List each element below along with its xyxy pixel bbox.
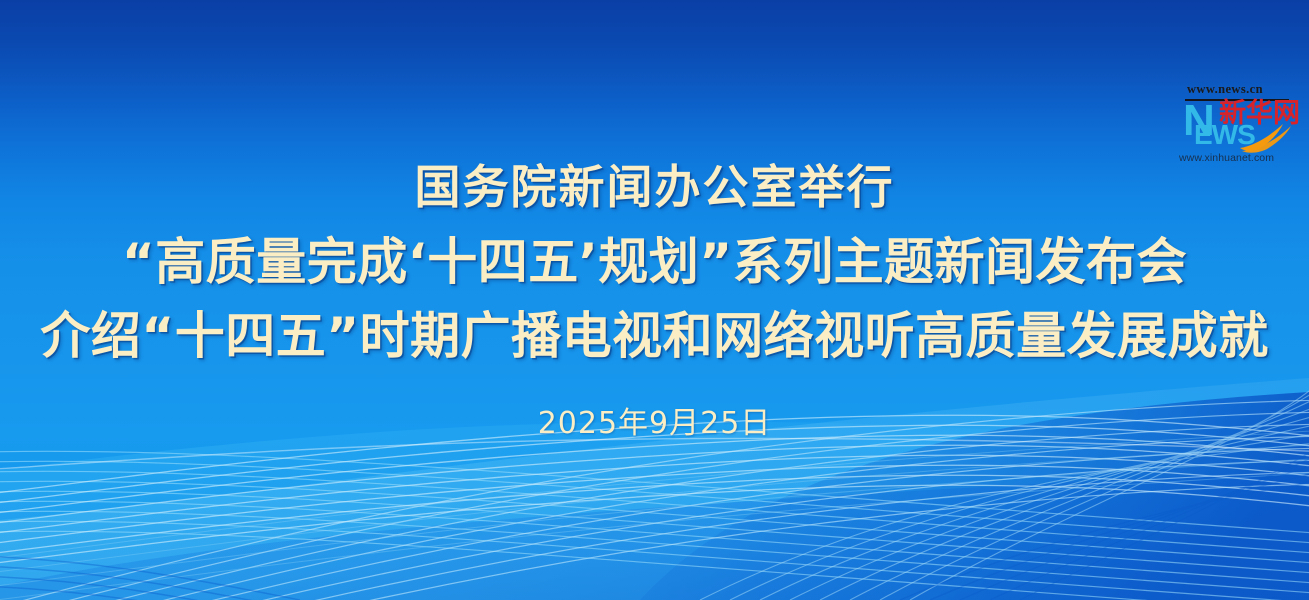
- background-wave-pattern: [0, 0, 1309, 600]
- logo-bottom-url: www.xinhuanet.com: [1179, 152, 1274, 164]
- headline-line-1: 国务院新闻办公室举行: [0, 160, 1309, 214]
- press-conference-banner: 国务院新闻办公室举行 “高质量完成‘十四五’规划”系列主题新闻发布会 介绍“十四…: [0, 0, 1309, 600]
- headline-line-3: 介绍“十四五”时期广播电视和网络视听高质量发展成就: [0, 306, 1309, 366]
- logo-top-url: www.news.cn: [1187, 82, 1263, 97]
- logo-swoosh-icon: [1239, 120, 1295, 154]
- logo-mark: N EWS 新华网: [1183, 101, 1293, 151]
- event-date: 2025年9月25日: [0, 405, 1309, 443]
- xinhua-logo[interactable]: www.news.cn N EWS 新华网 www.xinhuanet.com: [1175, 82, 1297, 170]
- headline-line-2: “高质量完成‘十四五’规划”系列主题新闻发布会: [0, 232, 1309, 292]
